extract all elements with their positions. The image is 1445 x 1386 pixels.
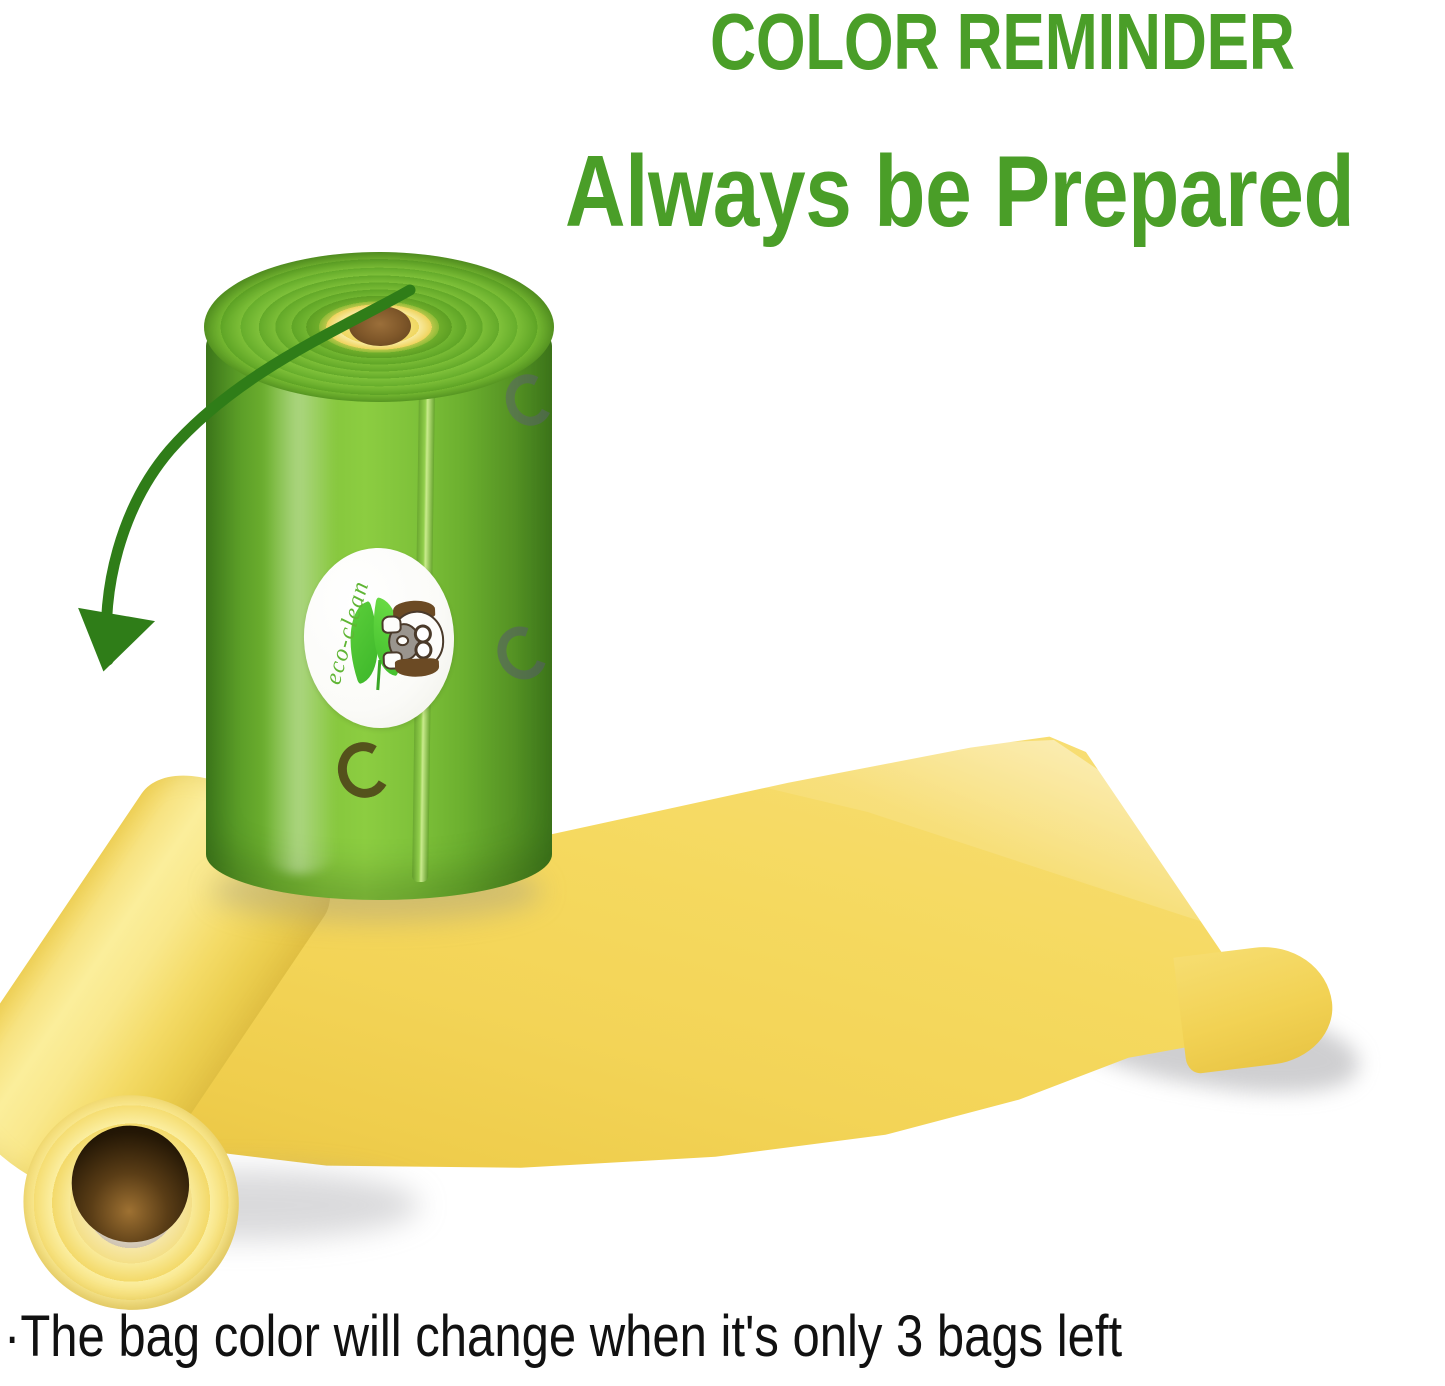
headline-secondary: Always be Prepared [565,142,1354,243]
headline-primary: COLOR REMINDER [710,2,1295,82]
unroll-direction-arrow-icon [40,260,460,740]
product-marketing-image: COLOR REMINDER Always be Prepared [0,0,1445,1386]
bottom-caption: ·The bag color will change when it's onl… [4,1306,1122,1368]
